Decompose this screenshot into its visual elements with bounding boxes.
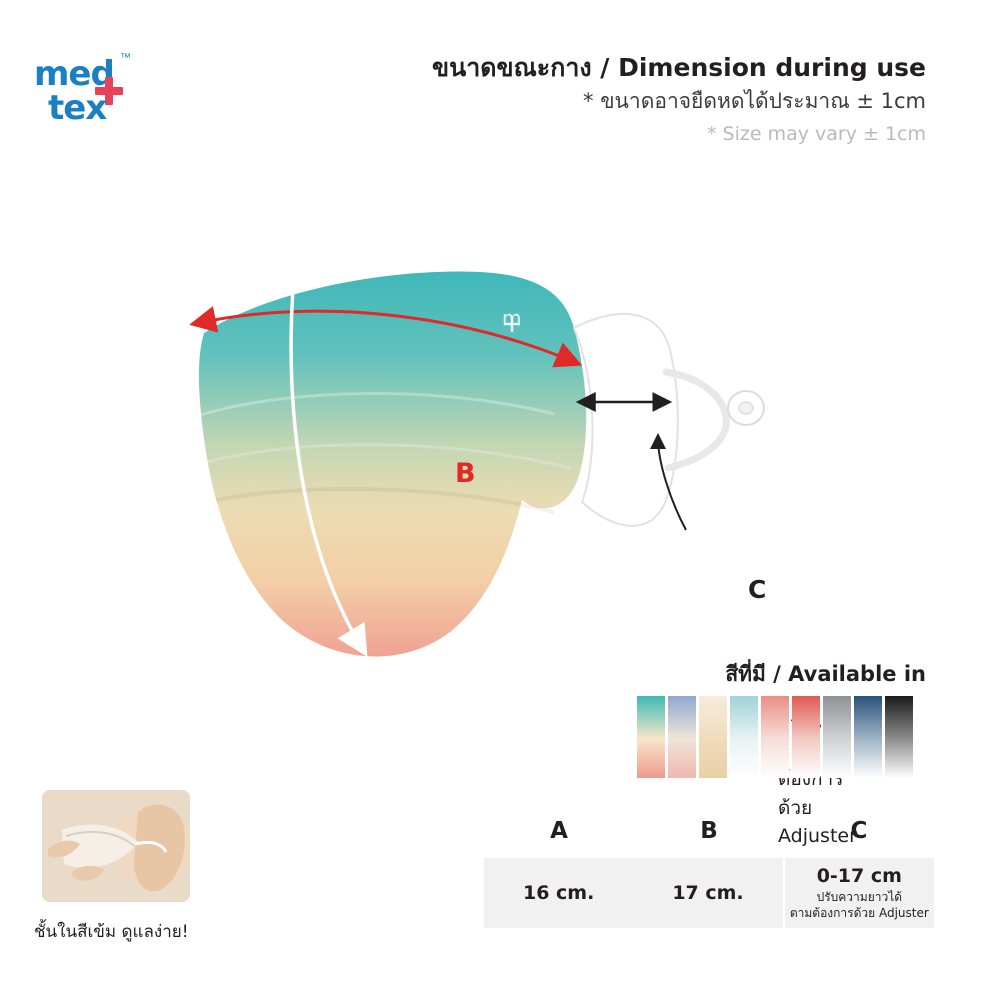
header-subtitle-th: * ขนาดอาจยืดหดได้ประมาณ ± 1cm [432, 87, 926, 115]
label-a: A [444, 648, 465, 679]
table-cell-b: 17 cm. [633, 858, 782, 928]
table-cell-c: 0-17 cm ปรับความยาวได้ ตามต้องการด้วย Ad… [783, 858, 934, 928]
brand-logo: med ™ tex [34, 48, 154, 138]
mask-diagram: m B A C ปรับได้ตามต้องการ ด้วย Adjuster [150, 200, 790, 680]
table-value-a: 16 cm. [523, 882, 594, 904]
color-swatch-black-white [885, 696, 913, 778]
trademark-icon: ™ [120, 52, 131, 64]
header-subtitle-en: * Size may vary ± 1cm [432, 122, 926, 148]
table-value-row: 16 cm. 17 cm. 0-17 cm ปรับความยาวได้ ตาม… [484, 858, 934, 928]
logo-text-tex: tex [48, 88, 106, 128]
label-b: B [455, 458, 476, 489]
color-swatch-list [637, 696, 913, 778]
color-swatch-navy-white [854, 696, 882, 778]
available-colors-title: สีที่มี / Available in [725, 658, 926, 691]
color-swatch-blue-pink [668, 696, 696, 778]
dimension-table: A B C 16 cm. 17 cm. 0-17 cm ปรับความยาวไ… [484, 818, 934, 928]
usage-photo-illustration [42, 790, 190, 902]
table-header-a: A [484, 818, 634, 858]
page-title: ขนาดขณะกาง / Dimension during use [432, 52, 926, 83]
color-swatch-cream-tan [699, 696, 727, 778]
table-header-row: A B C [484, 818, 934, 858]
color-swatch-light-teal [730, 696, 758, 778]
usage-photo-caption: ชั้นในสีเข้ม ดูแลง่าย! [34, 918, 189, 945]
table-value-c: 0-17 cm [817, 865, 902, 887]
table-cell-c-note-line2: ตามต้องการด้วย Adjuster [790, 906, 929, 920]
color-swatch-teal-peach [637, 696, 665, 778]
label-c: C [748, 575, 766, 604]
table-header-b: B [634, 818, 784, 858]
color-swatch-grey-white [823, 696, 851, 778]
color-swatch-red-white [792, 696, 820, 778]
header-block: ขนาดขณะกาง / Dimension during use * ขนาด… [432, 52, 926, 147]
table-cell-c-note: ปรับความยาวได้ ตามต้องการด้วย Adjuster [790, 889, 929, 921]
table-cell-a: 16 cm. [484, 858, 633, 928]
table-cell-c-note-line1: ปรับความยาวได้ [817, 890, 902, 904]
table-header-c: C [784, 818, 934, 858]
table-value-b: 17 cm. [672, 882, 743, 904]
color-swatch-coral-white [761, 696, 789, 778]
usage-photo [42, 790, 190, 902]
mask-illustration: m [150, 200, 790, 680]
